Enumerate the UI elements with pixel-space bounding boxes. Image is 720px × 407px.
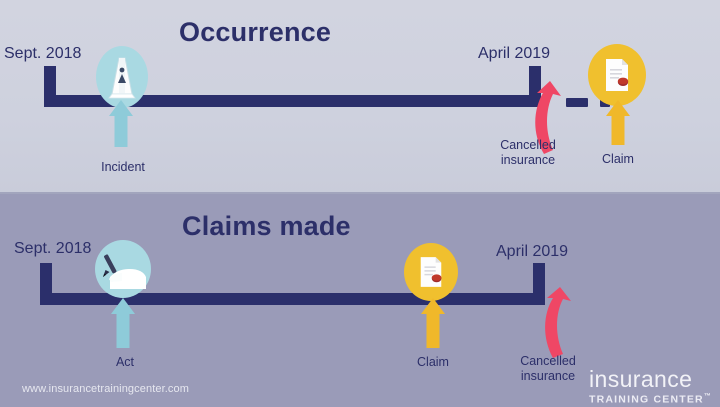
act-pointer-arrow-icon bbox=[108, 298, 138, 348]
brand-name-text: insurance bbox=[589, 367, 712, 391]
caption-claim: Claim bbox=[393, 355, 473, 370]
brand-tagline-text: TRAINING CENTER™ bbox=[589, 391, 712, 406]
claims-made-timeline-start-tick bbox=[40, 263, 52, 299]
page-title-claims-made: Claims made bbox=[182, 211, 351, 242]
page-title-occurrence: Occurrence bbox=[179, 17, 331, 48]
caution-sign-icon bbox=[96, 46, 148, 108]
caption-cancelled-insurance-line2: insurance bbox=[480, 153, 576, 168]
caption-cancelled-insurance-line2: insurance bbox=[500, 369, 596, 384]
document-stamp-icon bbox=[588, 44, 646, 106]
trademark-symbol: ™ bbox=[704, 393, 712, 400]
caption-cancelled-insurance: Cancelled insurance bbox=[480, 138, 576, 168]
caption-act: Act bbox=[85, 355, 165, 370]
brand-logo: insurance TRAINING CENTER™ bbox=[589, 367, 712, 406]
caption-cancelled-insurance-line1: Cancelled bbox=[480, 138, 576, 153]
caption-cancelled-insurance-line1: Cancelled bbox=[500, 354, 596, 369]
cancelled-insurance-curved-arrow-icon bbox=[539, 286, 583, 362]
infographic-canvas: Occurrence Sept. 2018 April 2019 bbox=[0, 0, 720, 407]
website-url-text: www.insurancetrainingcenter.com bbox=[22, 383, 189, 395]
document-stamp-icon bbox=[404, 243, 458, 301]
caption-claim: Claim bbox=[578, 152, 658, 167]
caption-incident: Incident bbox=[78, 160, 168, 175]
panel-occurrence: Occurrence Sept. 2018 April 2019 bbox=[0, 0, 720, 194]
claim-pointer-arrow-icon bbox=[418, 298, 448, 348]
brand-tagline-label: TRAINING CENTER bbox=[589, 394, 704, 406]
caption-cancelled-insurance: Cancelled insurance bbox=[500, 354, 596, 384]
incident-pointer-arrow-icon bbox=[106, 100, 136, 147]
occurrence-timeline-start-tick bbox=[44, 66, 56, 101]
claim-pointer-arrow-icon bbox=[603, 100, 633, 145]
claims-made-start-date-label: Sept. 2018 bbox=[14, 240, 91, 258]
occurrence-end-date-label: April 2019 bbox=[478, 45, 550, 63]
occurrence-start-date-label: Sept. 2018 bbox=[4, 45, 81, 63]
hand-writing-pen-icon bbox=[95, 240, 151, 298]
claims-made-end-date-label: April 2019 bbox=[496, 243, 568, 261]
